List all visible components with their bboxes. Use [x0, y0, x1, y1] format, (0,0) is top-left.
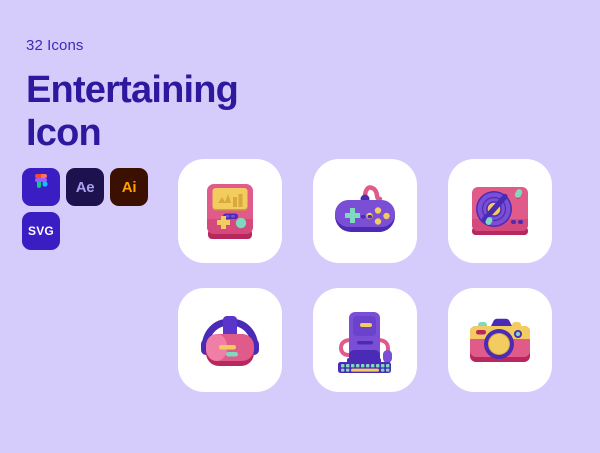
- format-badge-list: Ae Ai SVG: [22, 168, 162, 250]
- icon-card-handheld-console[interactable]: [178, 159, 282, 263]
- icon-card-retro-computer[interactable]: [313, 288, 417, 392]
- icon-grid: [178, 159, 552, 392]
- retro-computer-icon: [327, 302, 403, 378]
- icon-card-camera[interactable]: [448, 288, 552, 392]
- page-title: Entertaining Icon: [26, 69, 276, 154]
- badge-illustrator-label: Ai: [122, 179, 136, 196]
- icon-card-turntable[interactable]: [448, 159, 552, 263]
- icon-card-gamepad[interactable]: [313, 159, 417, 263]
- badge-figma[interactable]: [22, 168, 60, 206]
- header-panel: 32 Icons Entertaining Icon: [26, 38, 276, 154]
- badge-after-effects-label: Ae: [76, 179, 95, 196]
- turntable-icon: [464, 175, 536, 247]
- camera-icon: [462, 304, 538, 376]
- badge-svg-label: SVG: [28, 224, 54, 238]
- icon-card-vr-headset[interactable]: [178, 288, 282, 392]
- vr-headset-icon: [192, 304, 268, 376]
- badge-illustrator[interactable]: Ai: [110, 168, 148, 206]
- gamepad-icon: [327, 175, 403, 247]
- figma-icon: [33, 174, 49, 201]
- badge-svg[interactable]: SVG: [22, 212, 60, 250]
- handheld-console-icon: [194, 175, 266, 247]
- badge-after-effects[interactable]: Ae: [66, 168, 104, 206]
- icon-pack-cover: 32 Icons Entertaining Icon Ae Ai: [0, 0, 600, 453]
- icon-count-label: 32 Icons: [26, 38, 276, 53]
